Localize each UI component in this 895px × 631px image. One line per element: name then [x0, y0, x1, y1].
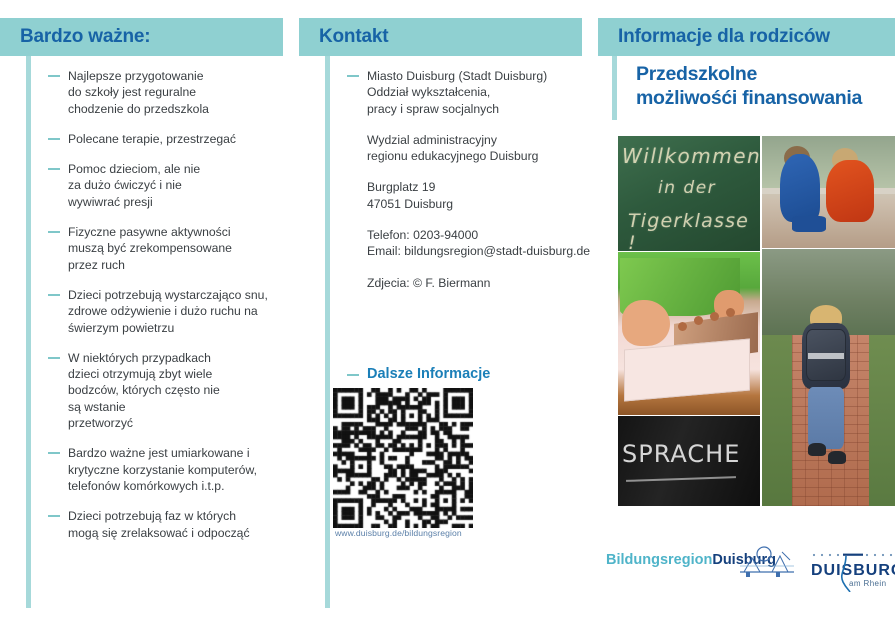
bullet-item: Polecane terapie, przestrzegać [48, 131, 308, 147]
bullet-line: Polecane terapie, przestrzegać [68, 131, 308, 147]
photo-chalkboard-sprache: SPRACHE [618, 416, 760, 506]
qr-code-url[interactable]: www.duisburg.de/bildungsregion [335, 528, 462, 538]
header-title-middle: Kontakt [319, 26, 388, 48]
contact-group: Telefon: 0203-94000Email: bildungsregion… [347, 227, 590, 260]
column-left: Najlepsze przygotowaniedo szkoły jest re… [26, 56, 308, 555]
photo-craft-table [618, 252, 760, 415]
page-title-line: Przedszkolne [636, 62, 894, 86]
header-gap-2 [582, 18, 598, 56]
sprache-underline [626, 476, 736, 482]
bullet-line: Fizyczne pasywne aktywności [68, 224, 308, 240]
craft-stamp-1 [678, 322, 687, 331]
photo-chalkboard-welcome: Willkommen in der Tigerklasse ! [618, 136, 760, 251]
path-grass-left [762, 335, 792, 506]
contact-line: 47051 Duisburg [367, 196, 590, 212]
further-information: Dalsze Informacje www.duisburg.de/bildun… [325, 366, 590, 382]
craft-hand-left [622, 300, 670, 346]
bullet-line: bodzców, których często nie [68, 382, 308, 398]
bullet-line: chodzenie do przedszkola [68, 101, 308, 117]
column-middle: Miasto Duisburg (Stadt Duisburg)Oddział … [325, 56, 590, 306]
column-rule-left [26, 56, 31, 608]
bullet-item: Dzieci potrzebują wystarczająco snu,zdro… [48, 287, 308, 336]
dash-marker-icon [347, 75, 359, 77]
child-shoe-left [808, 443, 826, 456]
further-info-heading: Dalsze Informacje [325, 366, 590, 382]
bullet-line: świerzym powietrzu [68, 320, 308, 336]
bullet-line: Dzieci potrzebują wystarczająco snu, [68, 287, 308, 303]
contact-line: pracy i spraw socjalnych [367, 101, 590, 117]
craft-paper-sheet [624, 338, 750, 401]
dash-marker-icon [48, 357, 60, 359]
bullet-line: telefonów komórkowych i.t.p. [68, 478, 308, 494]
logo-row: BildungsregionDuisburg DUISBURG [600, 544, 895, 592]
bullet-line: są wstanie [68, 399, 308, 415]
logo-duisburg-am-rhein: DUISBURG am Rhein [805, 546, 895, 592]
dash-marker-icon [48, 515, 60, 517]
dash-marker-icon [48, 75, 60, 77]
sprache-text: SPRACHE [622, 440, 740, 468]
child-shoe-right [828, 451, 846, 464]
dash-marker-icon [48, 138, 60, 140]
contact-line: Wydzial administracyjny [367, 132, 590, 148]
contact-line: Oddział wykształcenia, [367, 84, 590, 100]
dash-marker-icon [347, 374, 359, 376]
header-band: Bardzo ważne: Kontakt Informacje dla rod… [0, 18, 895, 56]
path-grass-right [869, 335, 895, 506]
column-header-left: Bardzo ważne: [0, 18, 283, 56]
column-header-right: Informacje dla rodziców [598, 18, 895, 56]
backpack-reflector-strip [808, 353, 844, 359]
header-title-left: Bardzo ważne: [20, 26, 150, 48]
contact-line: Burgplatz 19 [367, 179, 590, 195]
contact-line: Zdjecia: © F. Biermann [367, 275, 590, 291]
bullet-item: W niektórych przypadkachdzieci otrzymują… [48, 350, 308, 431]
craft-stamp-3 [710, 312, 719, 321]
chalk-line-3: Tigerklasse ! [628, 210, 760, 251]
child-jeans [808, 387, 844, 449]
contact-line: Miasto Duisburg (Stadt Duisburg) [367, 68, 590, 84]
contact-group: Miasto Duisburg (Stadt Duisburg)Oddział … [347, 68, 590, 117]
child-blue-legs [792, 216, 826, 232]
qr-code-icon[interactable] [333, 388, 473, 528]
page-title: Przedszkolnemożliwośći finansowania [636, 62, 894, 110]
column-rule-right [612, 56, 617, 120]
bullet-line: przez ruch [68, 257, 308, 273]
bullet-line: Pomoc dzieciom, ale nie [68, 161, 308, 177]
craft-stamp-4 [726, 308, 735, 317]
logo-duisburg-wordmark: DUISBURG [811, 562, 895, 580]
contact-group: Wydzial administracyjnyregionu edukacyjn… [347, 132, 590, 165]
bullet-item: Pomoc dzieciom, ale nieza dużo ćwiczyć i… [48, 161, 308, 210]
column-header-middle: Kontakt [299, 18, 582, 56]
bullet-line: muszą być zrekompensowane [68, 240, 308, 256]
contact-group: Burgplatz 1947051 Duisburg [347, 179, 590, 212]
contact-group: Zdjecia: © F. Biermann [347, 275, 590, 291]
column-rule-middle [325, 56, 330, 608]
child-blue-body [780, 154, 820, 222]
qr-code-wrapper[interactable] [333, 388, 473, 533]
contact-line: Telefon: 0203-94000 [367, 227, 590, 243]
bullet-line: przetworzyć [68, 415, 308, 431]
bullet-line: do szkoły jest reguralne [68, 84, 308, 100]
bridge-icon [738, 546, 796, 578]
photo-child-backpack-path [762, 249, 895, 506]
child-orange-body [826, 160, 874, 222]
logo-duisburg-subtitle: am Rhein [849, 579, 886, 588]
further-info-heading-text: Dalsze Informacje [367, 366, 490, 382]
page-title-line: możliwośći finansowania [636, 86, 894, 110]
header-title-right: Informacje dla rodziców [618, 26, 830, 48]
bullet-line: Dzieci potrzebują faz w których [68, 508, 308, 524]
bullet-line: W niektórych przypadkach [68, 350, 308, 366]
bullet-list-left: Najlepsze przygotowaniedo szkoły jest re… [26, 56, 308, 541]
bullet-item: Dzieci potrzebują faz w którychmogą się … [48, 508, 308, 541]
logo-dots-icon [811, 552, 895, 558]
bullet-line: dzieci otrzymują zbyt wiele [68, 366, 308, 382]
bullet-line: Najlepsze przygotowanie [68, 68, 308, 84]
bullet-item: Bardzo ważne jest umiarkowane ikrytyczne… [48, 445, 308, 494]
contact-block: Miasto Duisburg (Stadt Duisburg)Oddział … [325, 56, 590, 291]
bullet-line: zdrowe odżywienie i dużo ruchu na [68, 303, 308, 319]
bullet-line: za dużo ćwiczyć i nie [68, 177, 308, 193]
dash-marker-icon [48, 168, 60, 170]
dash-marker-icon [48, 294, 60, 296]
craft-stamp-2 [694, 316, 703, 325]
photo-collage: Willkommen in der Tigerklasse ! SPRACHE [612, 136, 895, 534]
photo-children-window [762, 136, 895, 248]
bullet-line: krytyczne korzystanie komputerów, [68, 462, 308, 478]
bullet-line: Bardzo ważne jest umiarkowane i [68, 445, 308, 461]
bullet-line: mogą się zrelaksować i odpocząć [68, 525, 308, 541]
bullet-item: Najlepsze przygotowaniedo szkoły jest re… [48, 68, 308, 117]
header-gap-1 [283, 18, 299, 56]
logo-bildungsregion-text: Bildungsregion [606, 552, 712, 568]
contact-line: Email: bildungsregion@stadt-duisburg.de [367, 243, 590, 259]
brochure-page: Bardzo ważne: Kontakt Informacje dla rod… [0, 0, 895, 631]
bullet-item: Fizyczne pasywne aktywnościmuszą być zre… [48, 224, 308, 273]
bullet-line: wywiwrać presji [68, 194, 308, 210]
chalk-line-1: Willkommen [622, 144, 760, 168]
dash-marker-icon [48, 231, 60, 233]
chalk-line-2: in der [658, 178, 716, 198]
contact-line: regionu edukacyjnego Duisburg [367, 148, 590, 164]
dash-marker-icon [48, 452, 60, 454]
